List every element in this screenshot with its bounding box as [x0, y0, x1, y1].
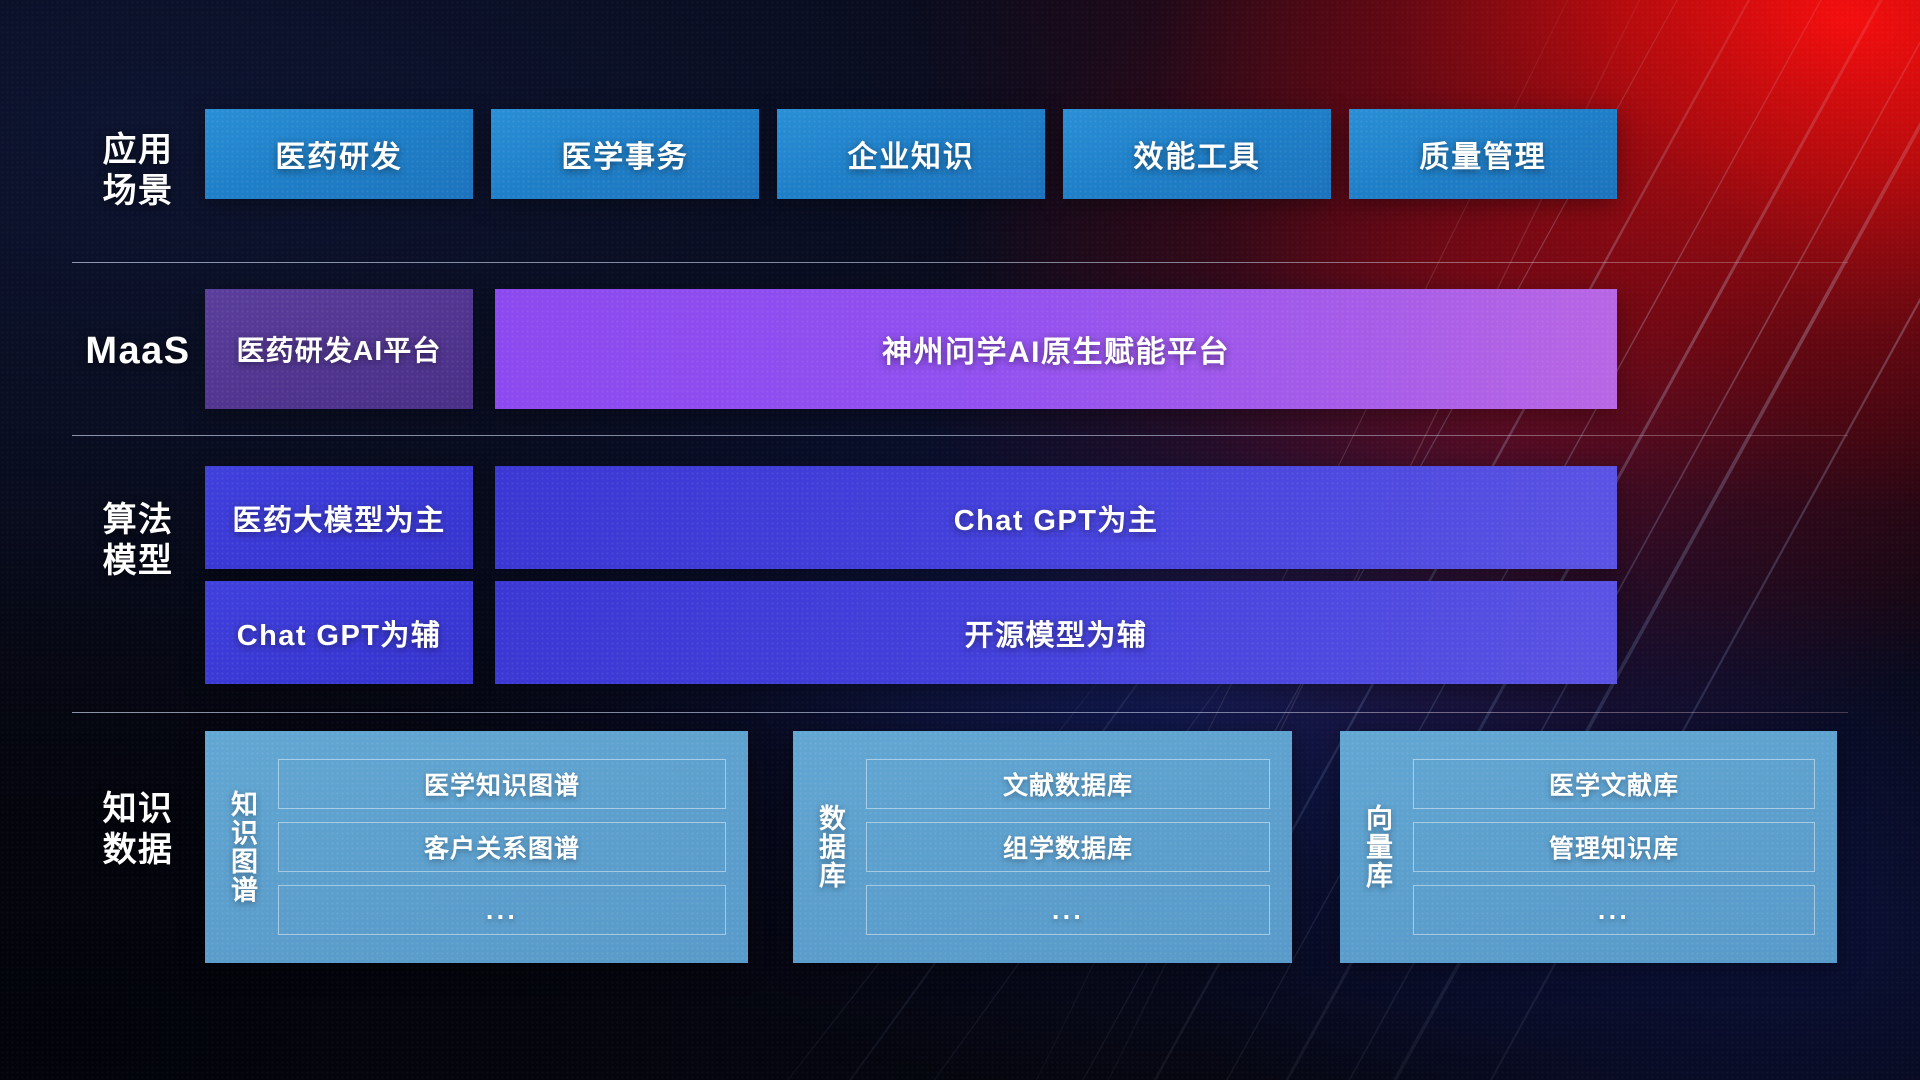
architecture-diagram: 应用 场景 医药研发 医学事务 企业知识 效能工具 质量管理 MaaS 医药研发… [0, 0, 1920, 1080]
knowledge-card-graph[interactable]: 知识图谱 医学知识图谱 客户关系图谱 ... [205, 731, 748, 963]
slide-canvas: 应用 场景 医药研发 医学事务 企业知识 效能工具 质量管理 MaaS 医药研发… [0, 0, 1920, 1080]
row-label-maas: MaaS [72, 328, 204, 374]
algo-box-chatgpt-primary[interactable]: Chat GPT为主 [495, 466, 1617, 569]
knowledge-item-more[interactable]: ... [278, 885, 726, 935]
knowledge-card-database[interactable]: 数据库 文献数据库 组学数据库 ... [793, 731, 1292, 963]
divider-application-maas [72, 262, 1848, 263]
app-box-label: 企业知识 [847, 132, 974, 176]
knowledge-card-vertical-label: 数据库 [813, 767, 846, 927]
algo-box-label: Chat GPT为辅 [237, 612, 442, 654]
divider-maas-algorithm [72, 435, 1848, 436]
algo-box-pharma-llm-primary[interactable]: 医药大模型为主 [205, 466, 473, 569]
knowledge-card-vertical-label: 知识图谱 [225, 747, 258, 947]
app-box-medical-affairs[interactable]: 医学事务 [491, 109, 759, 199]
app-box-enterprise-knowledge[interactable]: 企业知识 [777, 109, 1045, 199]
knowledge-item[interactable]: 文献数据库 [866, 759, 1270, 809]
algo-box-opensource-secondary[interactable]: 开源模型为辅 [495, 581, 1617, 684]
knowledge-card-items: 文献数据库 组学数据库 ... [866, 759, 1270, 935]
algo-box-chatgpt-secondary[interactable]: Chat GPT为辅 [205, 581, 473, 684]
row-label-algorithm: 算法 模型 [72, 500, 204, 583]
algo-box-label: 开源模型为辅 [965, 612, 1148, 654]
knowledge-item[interactable]: 管理知识库 [1413, 822, 1815, 872]
maas-right-label: 神州问学AI原生赋能平台 [882, 327, 1230, 371]
knowledge-item[interactable]: 医学知识图谱 [278, 759, 726, 809]
app-box-efficiency-tools[interactable]: 效能工具 [1063, 109, 1331, 199]
knowledge-card-vector-store[interactable]: 向量库 医学文献库 管理知识库 ... [1340, 731, 1837, 963]
row-label-application: 应用 场景 [72, 130, 204, 213]
app-box-label: 质量管理 [1419, 132, 1546, 176]
maas-left-label: 医药研发AI平台 [237, 329, 442, 369]
algo-box-label: Chat GPT为主 [954, 497, 1159, 539]
row-label-knowledge: 知识 数据 [72, 789, 204, 872]
knowledge-item-more[interactable]: ... [1413, 885, 1815, 935]
app-box-medicine-rd[interactable]: 医药研发 [205, 109, 473, 199]
divider-algorithm-knowledge [72, 712, 1848, 713]
algo-box-label: 医药大模型为主 [232, 497, 445, 539]
app-box-label: 医药研发 [275, 132, 402, 176]
knowledge-item[interactable]: 医学文献库 [1413, 759, 1815, 809]
knowledge-card-vertical-label: 向量库 [1360, 767, 1393, 927]
knowledge-card-items: 医学文献库 管理知识库 ... [1413, 759, 1815, 935]
maas-box-shenzhou-wenxue-platform[interactable]: 神州问学AI原生赋能平台 [495, 289, 1617, 409]
maas-box-pharma-ai-platform[interactable]: 医药研发AI平台 [205, 289, 473, 409]
app-box-label: 医学事务 [561, 132, 688, 176]
knowledge-item[interactable]: 组学数据库 [866, 822, 1270, 872]
knowledge-card-items: 医学知识图谱 客户关系图谱 ... [278, 759, 726, 935]
knowledge-item-more[interactable]: ... [866, 885, 1270, 935]
app-box-quality-management[interactable]: 质量管理 [1349, 109, 1617, 199]
knowledge-item[interactable]: 客户关系图谱 [278, 822, 726, 872]
app-box-label: 效能工具 [1133, 132, 1260, 176]
